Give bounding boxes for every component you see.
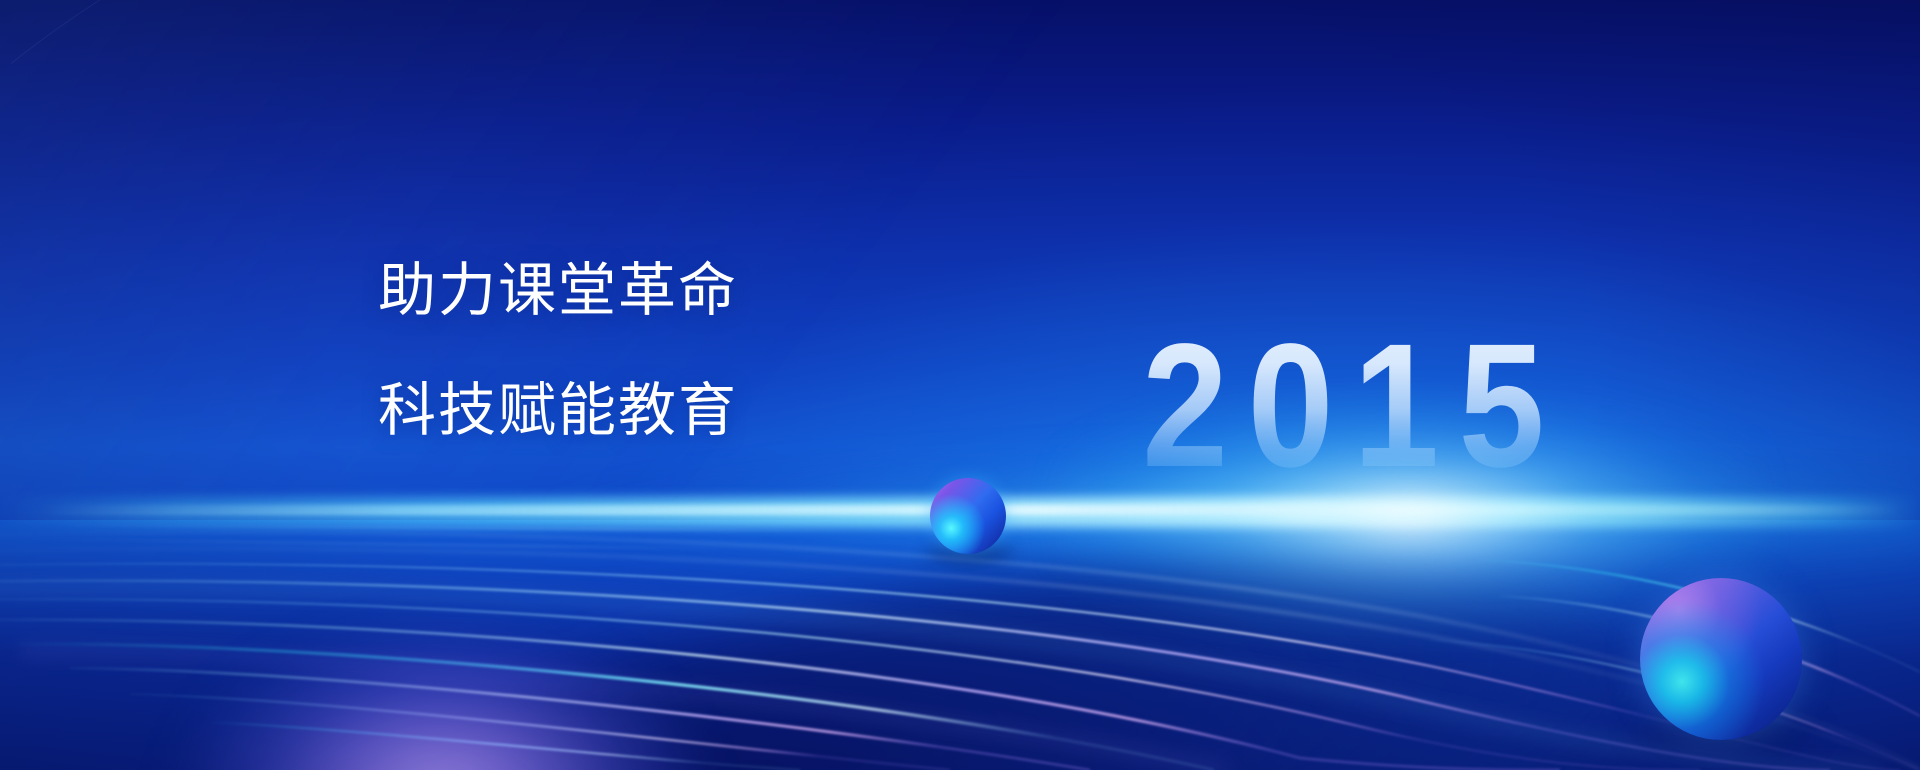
trail-core-shadow <box>124 461 1677 770</box>
light-streak <box>0 512 900 514</box>
year-display: 2015 <box>1142 318 1564 494</box>
hero-banner: 2015 助力课堂革命 科技赋能教育 <box>0 0 1920 770</box>
light-streak <box>40 524 860 532</box>
headline-line-1: 助力课堂革命 <box>378 262 738 320</box>
headline: 助力课堂革命 科技赋能教育 <box>378 262 738 440</box>
trail-arcs-icon <box>0 0 1920 770</box>
sky-arc-icon <box>0 0 1920 770</box>
purple-glow-orb <box>180 630 700 770</box>
headline-line-2: 科技赋能教育 <box>378 382 738 440</box>
swirling-light-trails <box>0 0 1920 770</box>
sphere-large <box>1640 578 1802 740</box>
sky-arc-icon <box>0 0 1920 770</box>
vignette-overlay <box>0 0 1920 770</box>
sky-arc-icon <box>0 0 1920 770</box>
sphere-small <box>930 478 1006 554</box>
light-streak <box>0 538 760 551</box>
